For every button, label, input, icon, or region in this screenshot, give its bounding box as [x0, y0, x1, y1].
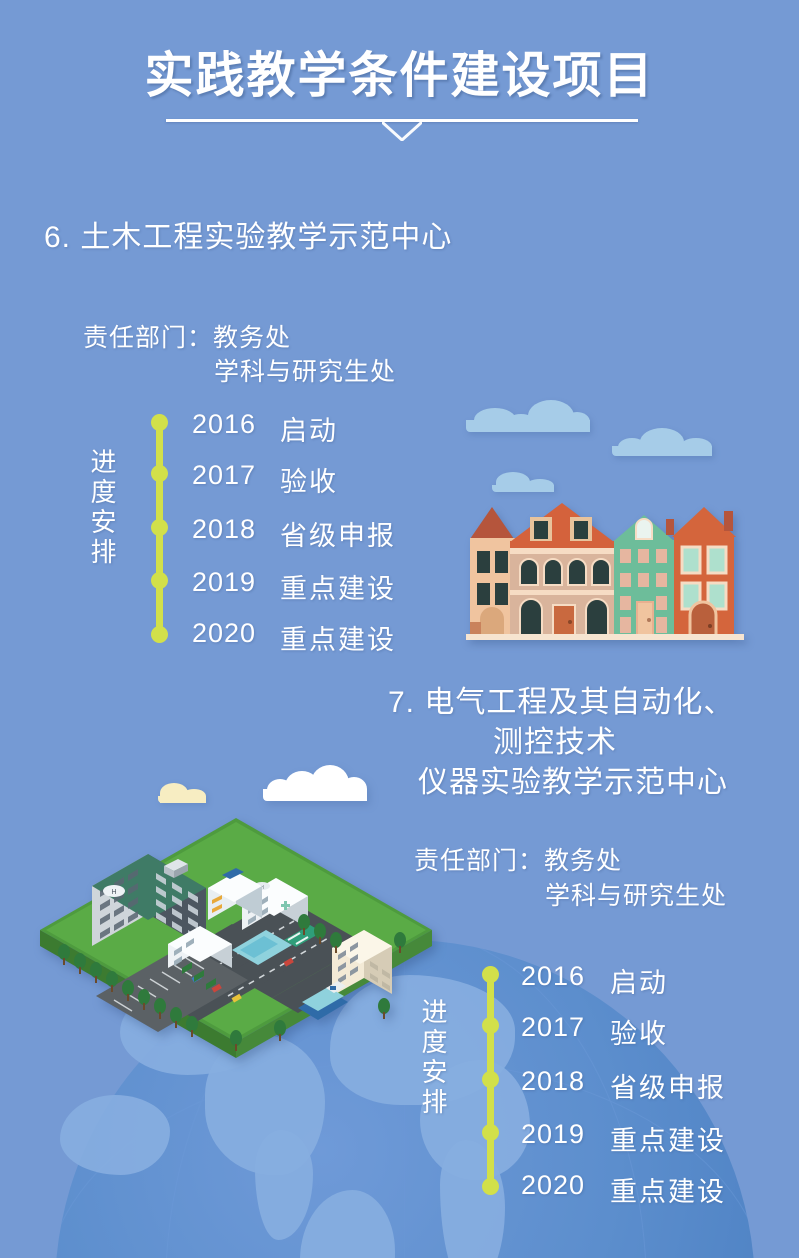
section-7-heading-line2: 测控技术 — [493, 717, 617, 761]
timeline-dot — [482, 1178, 499, 1195]
section-6-department-line2: 学科与研究生处 — [214, 352, 396, 388]
timeline-dot — [151, 626, 168, 643]
infographic-page: 实践教学条件建设项目 6. 土木工程实验教学示范中心 责任部门：教务处 学科与研… — [0, 0, 799, 1258]
globe-landmass — [60, 1095, 170, 1175]
timeline-milestone: 省级申报 — [280, 514, 396, 553]
timeline-year: 2017 — [192, 460, 256, 491]
timeline-year: 2019 — [192, 567, 256, 598]
section-7-heading-line1: 7. 电气工程及其自动化、 — [388, 677, 734, 721]
isometric-city-illustration: H H — [36, 800, 436, 1100]
globe-landmass — [300, 1190, 395, 1258]
timeline-year: 2017 — [521, 1012, 585, 1043]
timeline-milestone: 启动 — [280, 409, 338, 448]
timeline-dot — [482, 1124, 499, 1141]
timeline-year: 2016 — [521, 961, 585, 992]
timeline-milestone: 重点建设 — [280, 618, 396, 657]
timeline-year: 2020 — [192, 618, 256, 649]
section-6-schedule-label: 进度安排 — [84, 448, 121, 568]
timeline-dot — [151, 465, 168, 482]
timeline-year: 2020 — [521, 1170, 585, 1201]
timeline-milestone: 省级申报 — [610, 1066, 726, 1105]
svg-text:H: H — [111, 889, 116, 896]
cloud-icon — [466, 400, 590, 432]
timeline-dot — [151, 414, 168, 431]
section-6-heading: 6. 土木工程实验教学示范中心 — [44, 212, 452, 256]
timeline-milestone: 重点建设 — [610, 1119, 726, 1158]
timeline-dot — [482, 966, 499, 983]
timeline-year: 2018 — [192, 514, 256, 545]
timeline-dot — [482, 1017, 499, 1034]
timeline-year: 2019 — [521, 1119, 585, 1150]
chevron-down-icon — [380, 119, 424, 141]
section-6-department-line1: 责任部门：教务处 — [83, 318, 291, 354]
section-7-department-line2: 学科与研究生处 — [545, 876, 727, 912]
timeline-dot — [151, 572, 168, 589]
section-7-heading-line3: 仪器实验教学示范中心 — [418, 757, 728, 801]
row-houses-illustration — [458, 495, 750, 643]
timeline-year: 2016 — [192, 409, 256, 440]
globe-landmass — [440, 1140, 505, 1258]
timeline-milestone: 启动 — [610, 961, 668, 1000]
timeline-milestone: 验收 — [280, 460, 338, 499]
cloud-icon — [612, 428, 712, 456]
section-7-department-line1: 责任部门：教务处 — [414, 841, 622, 877]
timeline-milestone: 重点建设 — [280, 567, 396, 606]
timeline-milestone: 重点建设 — [610, 1170, 726, 1209]
page-title-block: 实践教学条件建设项目 — [0, 46, 799, 105]
timeline-dot — [151, 519, 168, 536]
page-title: 实践教学条件建设项目 — [0, 46, 799, 105]
cloud-icon — [263, 765, 367, 801]
globe-landmass — [255, 1130, 313, 1240]
timeline-milestone: 验收 — [610, 1012, 668, 1051]
timeline-dot — [482, 1071, 499, 1088]
timeline-year: 2018 — [521, 1066, 585, 1097]
cloud-icon — [492, 472, 554, 492]
